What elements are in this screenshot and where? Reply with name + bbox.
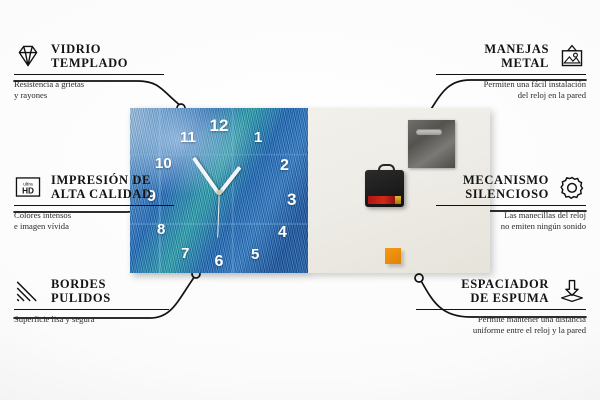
callout-vidrio-templado: VIDRIO TEMPLADO Resistencia a grietas y … bbox=[14, 42, 164, 101]
callout-title: ESPACIADOR DE ESPUMA bbox=[461, 277, 549, 305]
polished-edges-icon bbox=[14, 278, 42, 304]
callout-espaciador-de-espuma: ESPACIADOR DE ESPUMA Permite mantener un… bbox=[416, 277, 586, 336]
hanger-plate bbox=[408, 120, 455, 168]
ultra-hd-icon: ultra HD bbox=[14, 174, 42, 200]
callout-rule bbox=[14, 205, 174, 206]
minute-hand bbox=[192, 157, 221, 195]
infographic-canvas: 12 1 2 3 4 5 6 7 8 9 10 11 bbox=[0, 0, 600, 400]
callout-bordes-pulidos: BORDES PULIDOS Superficie lisa y segura bbox=[14, 277, 169, 325]
clock-numeral-2: 2 bbox=[280, 158, 289, 174]
clock-numeral-1: 1 bbox=[254, 130, 262, 145]
callout-title: BORDES PULIDOS bbox=[51, 277, 111, 305]
callout-subtitle: Las manecillas del reloj no emiten ningú… bbox=[436, 210, 586, 232]
mechanism-battery-chip bbox=[395, 196, 401, 204]
callout-subtitle: Permite mantener una distancia uniforme … bbox=[416, 314, 586, 336]
clock-mechanism bbox=[365, 170, 404, 207]
clock-numeral-3: 3 bbox=[287, 191, 296, 208]
callout-mecanismo-silencioso: MECANISMO SILENCIOSO Las manecillas del … bbox=[436, 173, 586, 232]
clock-hands-hub bbox=[217, 190, 222, 195]
clock-numeral-5: 5 bbox=[251, 247, 259, 262]
callout-title: MECANISMO SILENCIOSO bbox=[463, 173, 549, 201]
callout-rule bbox=[416, 309, 586, 310]
callout-subtitle: Resistencia a grietas y rayones bbox=[14, 79, 164, 101]
diamond-icon bbox=[14, 43, 42, 69]
gear-icon bbox=[558, 174, 586, 200]
callout-rule bbox=[14, 309, 169, 310]
svg-text:HD: HD bbox=[22, 187, 34, 196]
clock-numeral-7: 7 bbox=[181, 246, 189, 261]
clock-numeral-11: 11 bbox=[180, 130, 196, 145]
callout-subtitle: Superficie lisa y segura bbox=[14, 314, 169, 325]
clock-numeral-12: 12 bbox=[210, 117, 229, 134]
foam-spacer-icon bbox=[558, 278, 586, 304]
mechanism-label bbox=[368, 196, 396, 204]
callout-subtitle: Permiten una fácil instalación del reloj… bbox=[436, 79, 586, 101]
callout-manejas-metal: MANEJAS METAL Permiten una fácil instala… bbox=[436, 42, 586, 101]
picture-frame-hanger-icon bbox=[558, 43, 586, 69]
callout-title: IMPRESIÓN DE ALTA CALIDAD bbox=[51, 173, 152, 201]
callout-subtitle: Colores intensos e imagen vívida bbox=[14, 210, 174, 232]
clock-numeral-10: 10 bbox=[155, 156, 172, 171]
mechanism-hanging-loop bbox=[378, 164, 395, 174]
callout-rule bbox=[436, 74, 586, 75]
callout-rule bbox=[436, 205, 586, 206]
callout-title: MANEJAS METAL bbox=[484, 42, 549, 70]
hanger-slot bbox=[416, 129, 442, 135]
callout-rule bbox=[14, 74, 164, 75]
foam-spacer-square bbox=[385, 248, 401, 264]
clock-numeral-6: 6 bbox=[215, 254, 224, 270]
second-hand bbox=[217, 194, 220, 238]
callout-title: VIDRIO TEMPLADO bbox=[51, 42, 128, 70]
clock-numeral-4: 4 bbox=[278, 225, 287, 241]
callout-impresion-alta-calidad: ultra HD IMPRESIÓN DE ALTA CALIDAD Color… bbox=[14, 173, 174, 232]
